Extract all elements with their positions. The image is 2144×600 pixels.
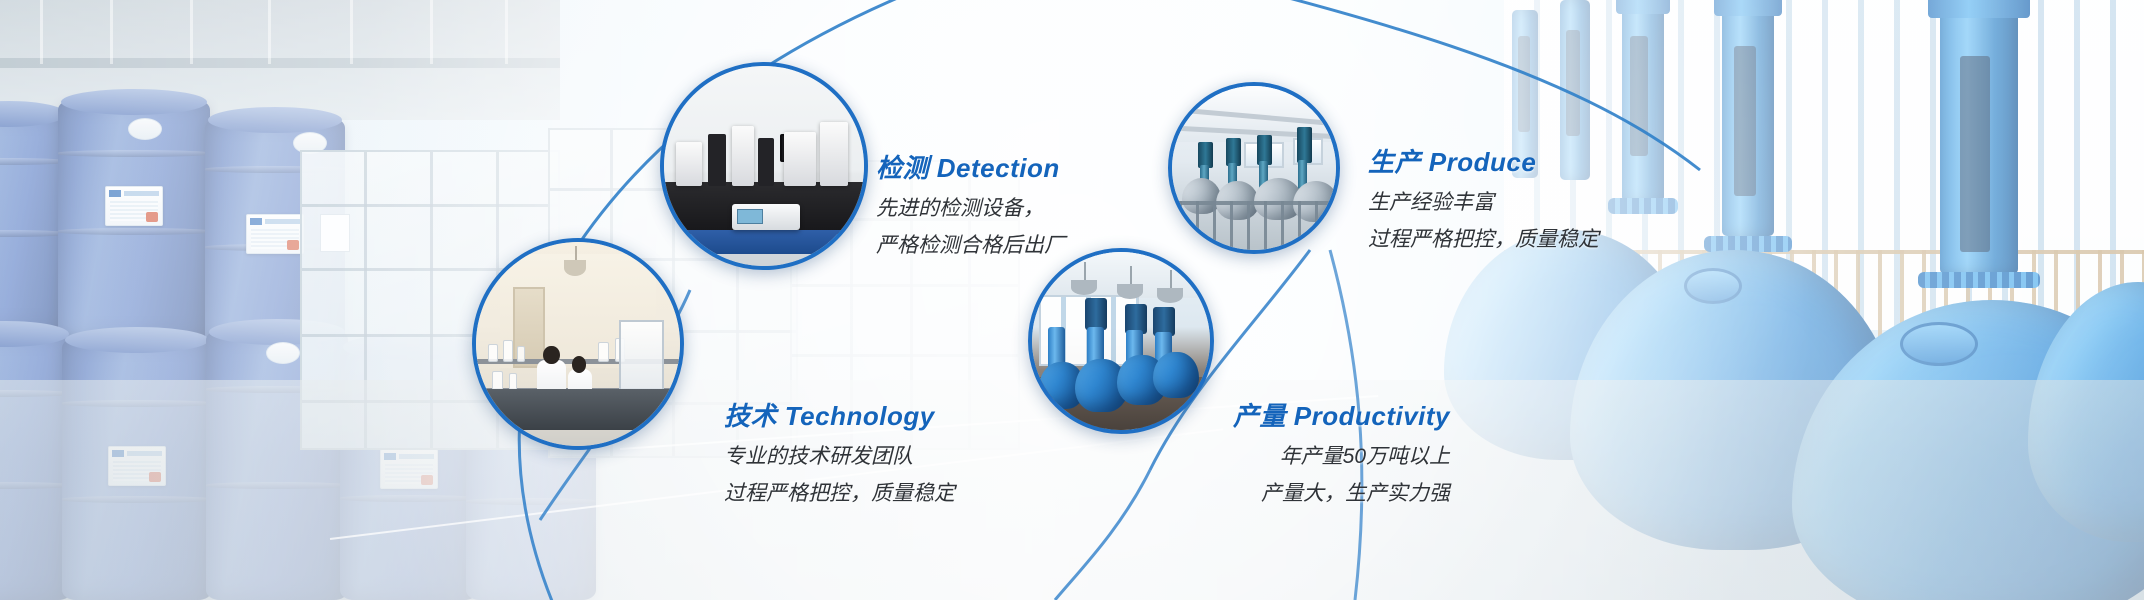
feature-heading-productivity: 产量 Productivity	[1000, 396, 1450, 433]
feature-text-detection: 检测 Detection 先进的检测设备， 严格检测合格后出厂	[876, 148, 1065, 259]
feature-line: 生产经验丰富	[1368, 186, 1599, 216]
feature-line: 专业的技术研发团队	[724, 440, 955, 470]
feature-photo-detection[interactable]	[660, 62, 868, 270]
feature-line: 过程严格把控，质量稳定	[724, 477, 955, 507]
feature-heading-detection: 检测 Detection	[876, 148, 1065, 185]
feature-heading-produce: 生产 Produce	[1368, 142, 1599, 179]
feature-text-produce: 生产 Produce 生产经验丰富 过程严格把控，质量稳定	[1368, 142, 1599, 253]
feature-text-productivity: 产量 Productivity 年产量50万吨以上 产量大，生产实力强	[1000, 396, 1450, 507]
feature-line: 产量大，生产实力强	[1000, 477, 1450, 507]
feature-photo-technology[interactable]	[472, 238, 684, 450]
feature-line: 先进的检测设备，	[876, 192, 1065, 222]
feature-text-technology: 技术 Technology 专业的技术研发团队 过程严格把控，质量稳定	[724, 396, 955, 507]
feature-line: 年产量50万吨以上	[1000, 440, 1450, 470]
feature-line: 过程严格把控，质量稳定	[1368, 223, 1599, 253]
feature-heading-technology: 技术 Technology	[724, 396, 955, 433]
factory-capability-banner: 检测 Detection 先进的检测设备， 严格检测合格后出厂 生产 Produ…	[0, 0, 2144, 600]
feature-line: 严格检测合格后出厂	[876, 229, 1065, 259]
feature-photo-produce[interactable]	[1168, 82, 1340, 254]
